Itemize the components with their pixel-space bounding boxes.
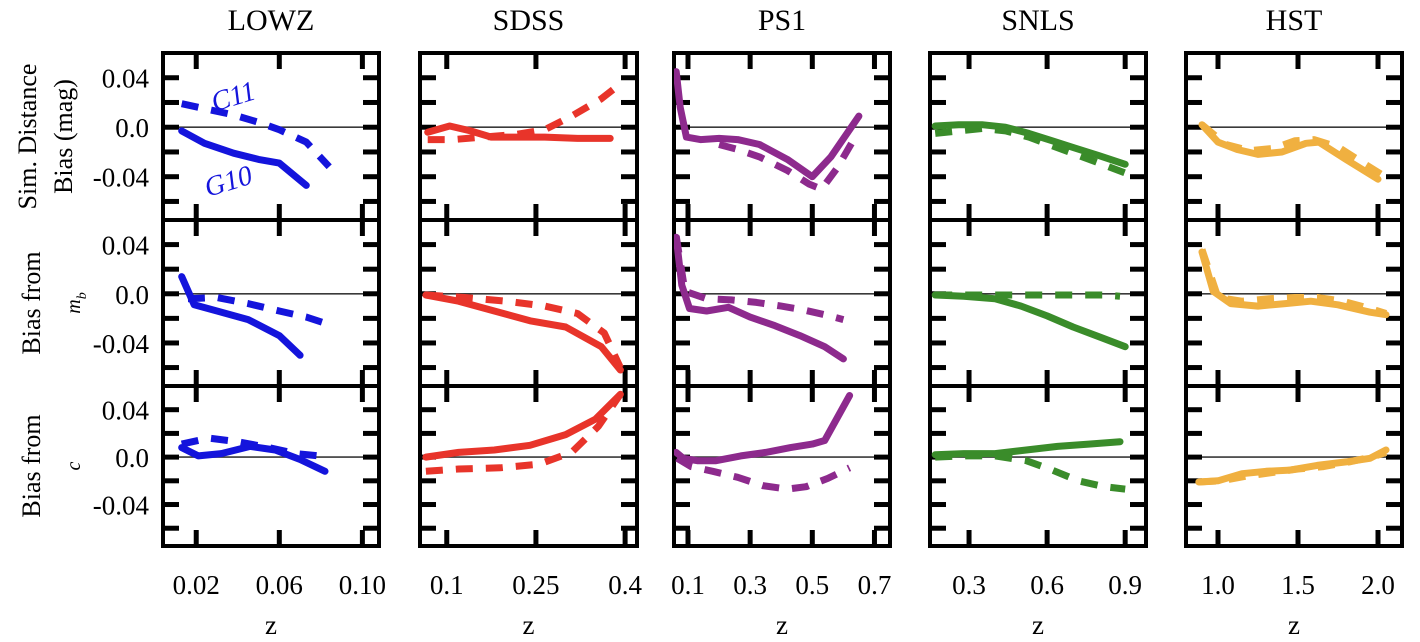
x-axis-label-hst: z — [1288, 610, 1300, 640]
multi-panel-bias-chart: LOWZ0.040.0-0.040.040.0-0.040.040.0-0.04… — [0, 0, 1420, 642]
curve-ps1-row0-g10 — [676, 72, 859, 177]
curve-ps1-row2-g10 — [676, 396, 849, 461]
curve-sdss-row1-c11 — [426, 295, 621, 368]
x-tick-label: 0.3 — [733, 570, 767, 600]
panel-title-snls: SNLS — [1001, 4, 1074, 37]
series-group-hst-row2 — [1199, 450, 1386, 482]
y-tick-label: 0.0 — [115, 280, 149, 310]
row-label-variable-1: mb — [63, 292, 90, 313]
x-tick-label: 0.25 — [512, 570, 559, 600]
curve-snls-row0-c11 — [935, 129, 1125, 174]
curve-snls-row2-g10 — [935, 442, 1120, 455]
x-tick-label: 0.10 — [339, 570, 386, 600]
series-group-snls-row1 — [935, 295, 1125, 347]
x-tick-label: 0.4 — [608, 570, 642, 600]
y-tick-label: 0.0 — [115, 443, 149, 473]
panel-title-ps1: PS1 — [758, 4, 806, 37]
curve-snls-row1-g10 — [935, 295, 1125, 347]
row-label-variable-2: c — [63, 461, 85, 470]
series-group-snls-row2 — [935, 442, 1125, 489]
x-axis-label-lowz: z — [265, 610, 277, 640]
row-label-bias-from-1: Bias from — [17, 251, 46, 354]
axes-frame-ps1-row2 — [674, 386, 890, 546]
x-tick-label: 0.1 — [430, 570, 464, 600]
series-group-snls-row0 — [935, 125, 1125, 173]
curve-lowz-row2-g10 — [182, 446, 325, 471]
series-group-sdss-row1 — [426, 295, 621, 370]
series-group-hst-row0 — [1202, 125, 1381, 180]
y-tick-label: 0.0 — [115, 113, 149, 143]
curve-snls-row0-g10 — [935, 125, 1125, 165]
x-tick-label: 0.7 — [858, 570, 892, 600]
x-tick-label: 0.02 — [173, 570, 220, 600]
annotation-c11: C11 — [208, 76, 260, 119]
row-label-bias-from-2: Bias from — [17, 414, 46, 517]
axes-frame-hst-row0 — [1186, 53, 1402, 220]
figure-root: LOWZ0.040.0-0.040.040.0-0.040.040.0-0.04… — [0, 0, 1420, 642]
series-group-ps1-row1 — [676, 236, 843, 359]
series-group-sdss-row0 — [428, 84, 621, 140]
y-tick-label: -0.04 — [93, 163, 150, 193]
x-tick-label: 2.0 — [1361, 570, 1395, 600]
x-tick-label: 0.1 — [671, 570, 705, 600]
y-tick-label: 0.04 — [102, 231, 150, 261]
series-group-lowz-row1 — [182, 277, 330, 356]
series-group-sdss-row2 — [426, 394, 621, 471]
y-tick-label: 0.04 — [102, 396, 150, 426]
panel-title-hst: HST — [1266, 4, 1323, 37]
x-tick-label: 0.06 — [256, 570, 303, 600]
panel-title-lowz: LOWZ — [228, 4, 315, 37]
x-tick-label: 1.5 — [1281, 570, 1315, 600]
x-axis-label-sdss: z — [523, 610, 535, 640]
series-group-ps1-row0 — [676, 72, 859, 190]
curve-sdss-row2-g10 — [426, 394, 621, 457]
series-group-hst-row1 — [1202, 250, 1386, 315]
series-group-lowz-row2 — [182, 438, 325, 471]
x-tick-label: 0.9 — [1108, 570, 1142, 600]
x-tick-label: 1.0 — [1201, 570, 1235, 600]
row-label-sim-distance: Sim. Distance — [13, 64, 42, 210]
x-tick-label: 0.6 — [1030, 570, 1064, 600]
x-tick-label: 0.3 — [952, 570, 986, 600]
x-tick-label: 0.5 — [795, 570, 829, 600]
y-tick-label: 0.04 — [102, 64, 150, 94]
curve-snls-row2-c11 — [935, 456, 1125, 489]
x-axis-label-ps1: z — [776, 610, 788, 640]
annotation-g10: G10 — [201, 160, 256, 204]
y-tick-label: -0.04 — [93, 491, 150, 521]
y-tick-label: -0.04 — [93, 329, 150, 359]
curve-sdss-row2-c11 — [426, 394, 621, 471]
x-axis-label-snls: z — [1032, 610, 1044, 640]
axes-frame-lowz-row2 — [163, 386, 379, 546]
curve-sdss-row0-c11 — [428, 84, 621, 140]
row-label-bias-mag: Bias (mag) — [49, 79, 78, 194]
axes-frame-snls-row1 — [930, 220, 1146, 386]
curve-hst-row2-g10 — [1199, 450, 1386, 482]
series-group-ps1-row2 — [676, 396, 849, 490]
curve-lowz-row1-g10 — [182, 277, 300, 356]
panel-title-sdss: SDSS — [493, 4, 565, 37]
